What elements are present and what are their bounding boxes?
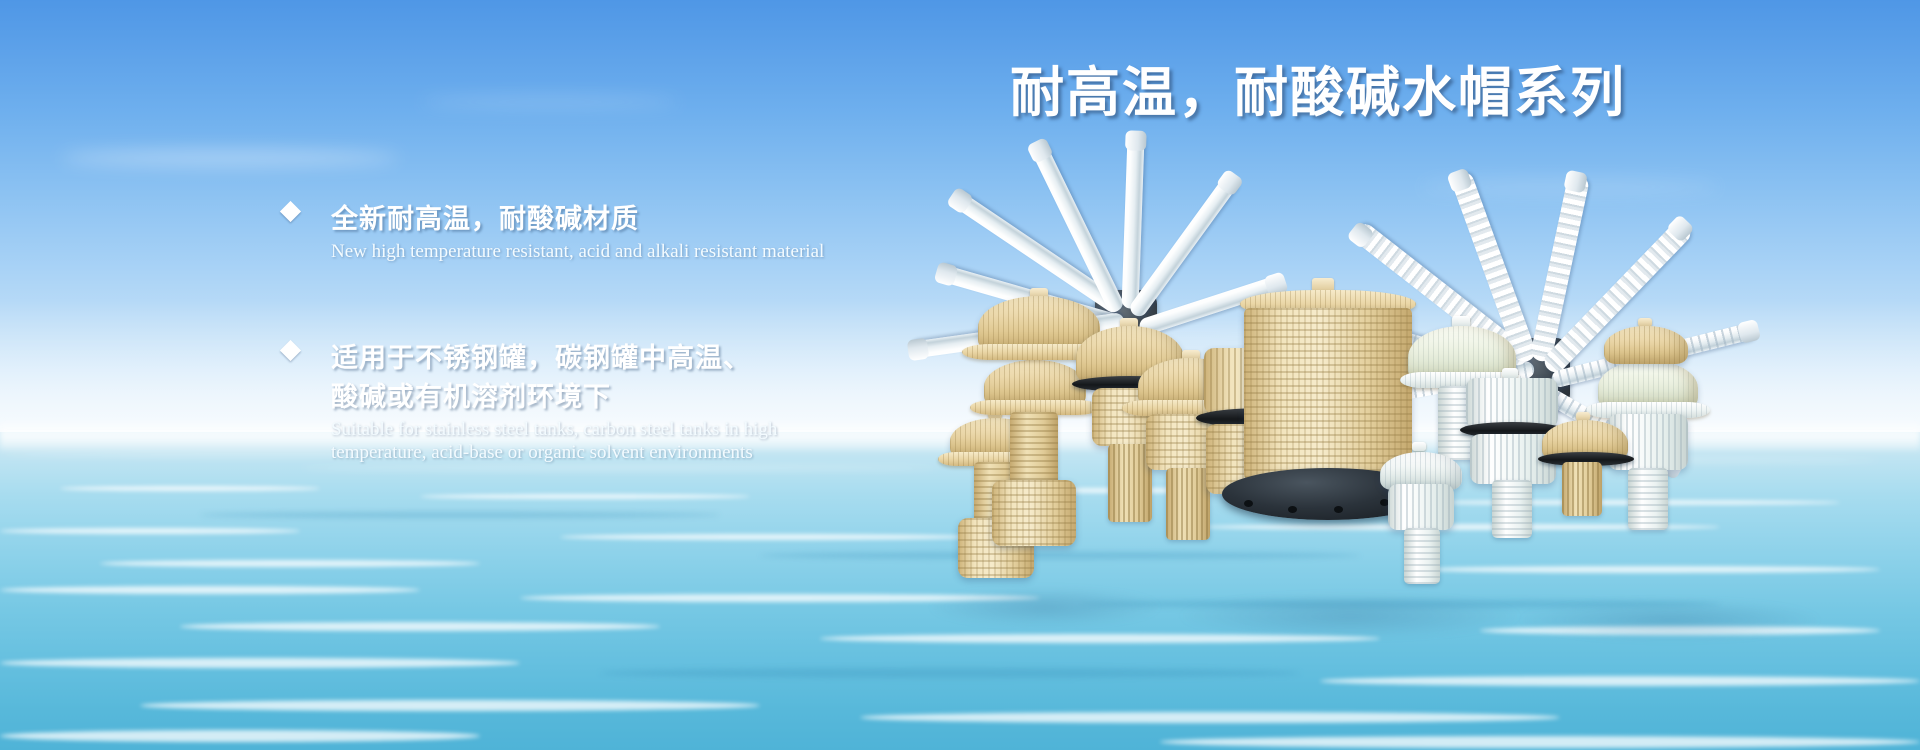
water-ripple xyxy=(760,552,1360,559)
page-title: 耐高温，耐酸碱水帽系列 xyxy=(1010,62,1626,124)
cloud-wisp xyxy=(60,150,400,166)
water-ripple xyxy=(1420,566,1880,573)
water-ripple xyxy=(600,668,1300,678)
feature-1-title-cn: 全新耐高温，耐酸碱材质 xyxy=(331,200,1003,239)
product-banner: 耐高温，耐酸碱水帽系列 全新耐高温，耐酸碱材质 New high tempera… xyxy=(0,0,1920,750)
water-ripple xyxy=(180,622,660,631)
feature-item-1: 全新耐高温，耐酸碱材质 New high temperature resista… xyxy=(283,200,1003,263)
water-ripple xyxy=(1420,500,1840,505)
feature-list: 全新耐高温，耐酸碱材质 New high temperature resista… xyxy=(283,200,1003,464)
feature-2-title-en-line2: temperature, acid-base or organic solven… xyxy=(331,442,753,463)
water-ripple xyxy=(820,634,1380,643)
water-ripple xyxy=(200,512,720,518)
cloud-wisp xyxy=(1420,180,1720,194)
water-ripple xyxy=(300,466,940,470)
water-ripple xyxy=(1080,600,1720,608)
feature-2-title-cn: 适用于不锈钢罐，碳钢罐中高温、 酸碱或有机溶剂环境下 xyxy=(283,339,1003,417)
water-ripple xyxy=(140,700,760,711)
diamond-bullet-icon xyxy=(280,201,301,222)
water-ripple xyxy=(0,528,300,534)
feature-2-title-en-line1: Suitable for stainless steel tanks, carb… xyxy=(331,419,777,440)
feature-item-2: 适用于不锈钢罐，碳钢罐中高温、 酸碱或有机溶剂环境下 Suitable for … xyxy=(283,339,1003,464)
feature-2-title-en: Suitable for stainless steel tanks, carb… xyxy=(283,418,1003,464)
feature-1-title-en: New high temperature resistant, acid and… xyxy=(331,240,1003,263)
water-ripple xyxy=(420,494,750,499)
feature-2-title-cn-line1: 适用于不锈钢罐，碳钢罐中高温、 xyxy=(331,343,751,373)
water-ripple xyxy=(860,712,1560,723)
water-ripple xyxy=(0,586,420,594)
cloud-wisp xyxy=(420,96,680,108)
water-ripple xyxy=(1320,676,1920,686)
water-ripple xyxy=(980,488,1260,493)
water-ripple xyxy=(0,658,520,668)
water-ripple xyxy=(1180,458,1880,462)
water-ripple xyxy=(520,594,1040,602)
water-ripple xyxy=(60,486,320,491)
water-ripple xyxy=(560,534,980,540)
water-ripple xyxy=(1200,524,1720,530)
water-ripple xyxy=(1160,736,1920,748)
feature-2-title-cn-line2: 酸碱或有机溶剂环境下 xyxy=(331,378,1003,417)
water-ripple xyxy=(0,730,480,742)
water-ripple xyxy=(100,560,480,567)
water-ripple xyxy=(1480,626,1880,635)
